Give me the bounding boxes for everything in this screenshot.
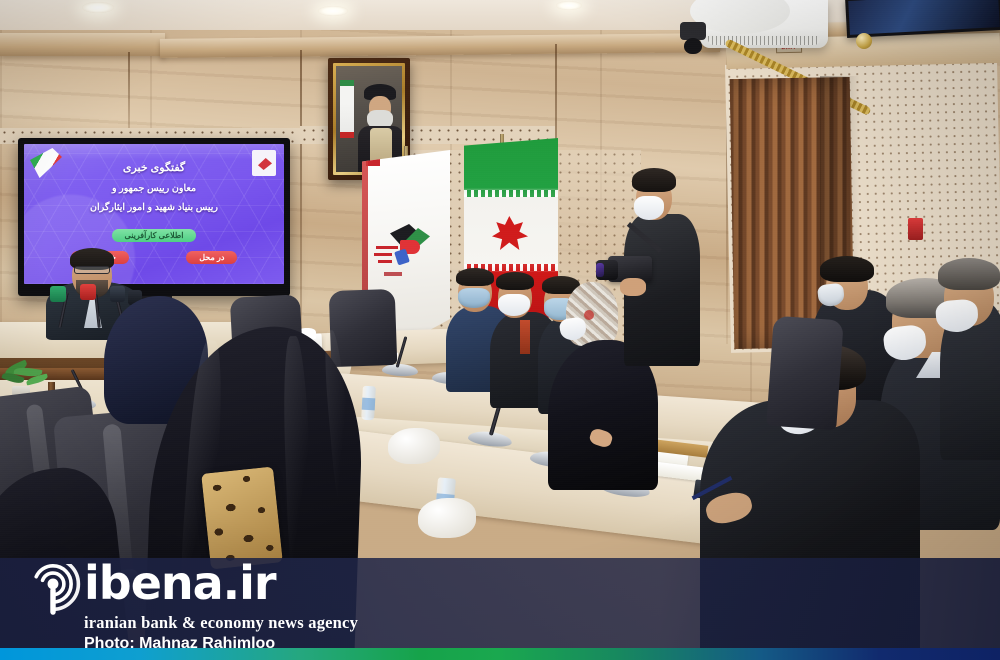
slide-badge-red-right: در محل — [186, 251, 237, 264]
speaker-glasses — [74, 266, 110, 274]
official-hair — [456, 268, 494, 286]
leopard-print-bag — [201, 466, 283, 569]
ceiling-light — [82, 2, 114, 13]
slide-title: گفتگوی خبری — [24, 161, 284, 174]
official-mask — [498, 294, 530, 316]
security-camera-lens — [684, 38, 702, 54]
fire-alarm — [908, 218, 923, 240]
slide-subtitle-1: معاون رییس جمهور و — [24, 183, 284, 194]
dslr-lens-glass — [596, 263, 604, 277]
attendee-hair — [820, 256, 874, 282]
wall-beam — [0, 33, 165, 56]
ceiling-light — [318, 6, 348, 16]
official-hair — [496, 272, 534, 290]
photographer-hand — [620, 278, 646, 296]
mic-flag-green — [50, 286, 66, 302]
photographer-hair — [632, 168, 676, 192]
woman-hijab-accent — [584, 310, 594, 320]
mic-flag-dark — [110, 286, 125, 302]
watermark-banner: ibena.ir iranian bank & economy news age… — [0, 558, 1000, 660]
slide-content: گفتگوی خبری معاون رییس جمهور و رییس بنیا… — [24, 144, 284, 284]
conference-chair[interactable] — [766, 316, 844, 431]
watermark-tagline: iranian bank & economy news agency — [84, 613, 358, 633]
presentation-screen[interactable]: گفتگوی خبری معاون رییس جمهور و رییس بنیا… — [18, 138, 290, 296]
broadcast-signal-icon — [24, 564, 82, 622]
bottle-label — [362, 398, 376, 411]
photo-canvas: EXIT — [0, 0, 1000, 660]
mic-flag-red — [80, 284, 96, 300]
tissue-bundle — [418, 498, 476, 538]
watermark-site-name: ibena.ir — [84, 560, 276, 606]
wall-seam — [300, 50, 302, 350]
slide-subtitle-2: رییس بنیاد شهید و امور ایثارگران — [24, 202, 284, 213]
photographer-mask — [634, 196, 664, 220]
official-tie — [520, 320, 530, 354]
tissue-bundle — [388, 428, 440, 464]
gradient-bar — [0, 648, 1000, 660]
attendee-hair — [938, 258, 1000, 290]
official-mask — [458, 288, 490, 308]
slide-badge-green: اطلاعی کارآفرینی — [112, 229, 197, 242]
curtain-finial — [856, 33, 872, 49]
ceiling-light — [556, 1, 582, 10]
